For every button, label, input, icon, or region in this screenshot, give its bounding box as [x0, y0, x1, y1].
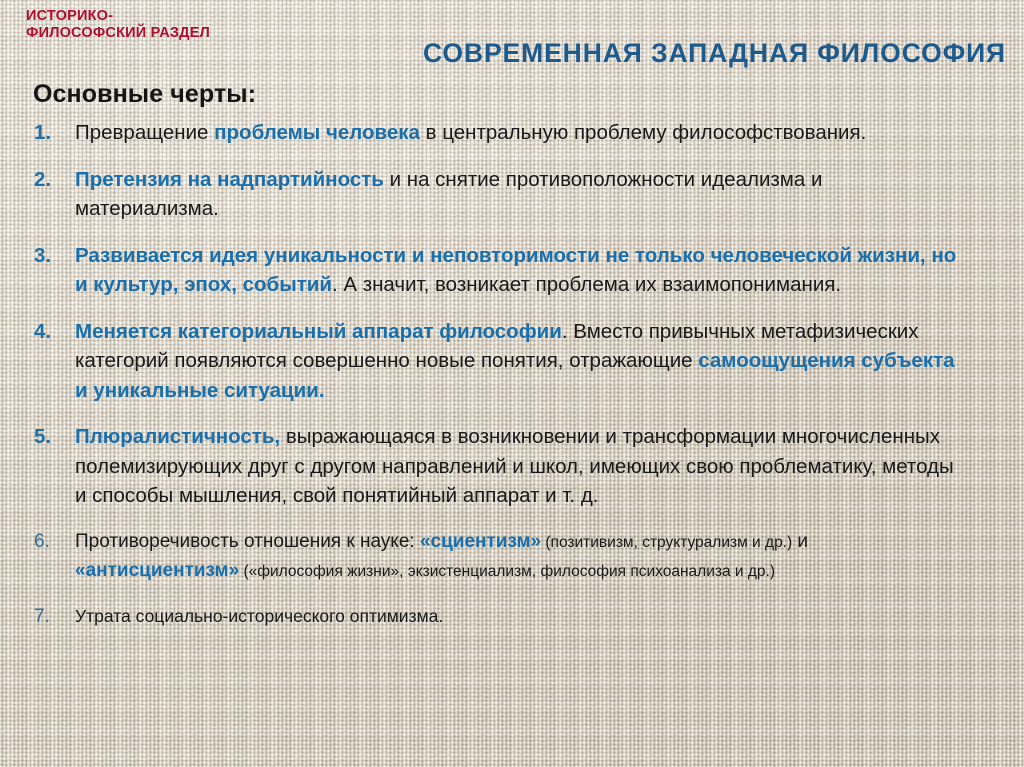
text-segment: в центральную проблему философствования.: [420, 121, 866, 144]
text-segment: («философия жизни», экзистенциализм, фил…: [239, 563, 775, 580]
text-segment: Утрата социально-исторического оптимизма…: [75, 606, 443, 626]
section-tag: ИСТОРИКО- ФИЛОСОФСКИЙ РАЗДЕЛ: [26, 8, 286, 41]
list-item-marker: 1.: [34, 118, 64, 148]
list-item: 1.Превращение проблемы человека в центра…: [0, 118, 1024, 148]
list-item-text: Плюралистичность, выражающаяся в возникн…: [75, 422, 966, 511]
highlighted-phrase: «сциентизм»: [420, 531, 541, 552]
text-segment: Превращение: [75, 121, 214, 144]
slide-content: ИСТОРИКО- ФИЛОСОФСКИЙ РАЗДЕЛ СОВРЕМЕННАЯ…: [0, 0, 1024, 767]
text-segment: (позитивизм, структурализм и др.): [541, 534, 792, 551]
features-list: 1.Превращение проблемы человека в центра…: [0, 118, 1024, 647]
list-item-marker: 5.: [34, 422, 64, 452]
list-item-marker: 3.: [34, 241, 64, 271]
highlighted-phrase: «антисциентизм»: [75, 560, 239, 581]
list-item: 7.Утрата социально-исторического оптимиз…: [0, 603, 1024, 630]
list-item: 2.Претензия на надпартийность и на сняти…: [0, 165, 1024, 224]
text-segment: . А значит, возникает проблема их взаимо…: [332, 273, 841, 296]
list-item-text: Утрата социально-исторического оптимизма…: [75, 603, 966, 630]
slide-title: СОВРЕМЕННАЯ ЗАПАДНАЯ ФИЛОСОФИЯ: [300, 38, 1024, 69]
highlighted-phrase: Меняется категориальный аппарат философи…: [75, 320, 562, 343]
text-segment: Противоречивость отношения к науке:: [75, 531, 420, 552]
list-item-text: Противоречивость отношения к науке: «сци…: [75, 528, 966, 586]
highlighted-phrase: Плюралистичность,: [75, 425, 280, 448]
section-tag-line-1: ИСТОРИКО-: [26, 8, 286, 25]
page-title: Основные черты:: [33, 80, 256, 109]
list-item-marker: 2.: [34, 165, 64, 195]
list-item: 4.Меняется категориальный аппарат филосо…: [0, 317, 1024, 406]
list-item-text: Развивается идея уникальности и неповтор…: [75, 241, 966, 300]
list-item: 3.Развивается идея уникальности и неповт…: [0, 241, 1024, 300]
highlighted-phrase: Претензия на надпартийность: [75, 168, 384, 191]
slide-header: ИСТОРИКО- ФИЛОСОФСКИЙ РАЗДЕЛ СОВРЕМЕННАЯ…: [0, 0, 1024, 76]
list-item-text: Претензия на надпартийность и на снятие …: [75, 165, 966, 224]
section-tag-line-2: ФИЛОСОФСКИЙ РАЗДЕЛ: [26, 25, 286, 42]
highlighted-phrase: проблемы человека: [214, 121, 420, 144]
list-item-marker: 7.: [34, 603, 64, 630]
list-item-marker: 4.: [34, 317, 64, 347]
list-item-marker: 6.: [34, 528, 64, 556]
list-item: 6.Противоречивость отношения к науке: «с…: [0, 528, 1024, 586]
text-segment: и: [792, 531, 808, 552]
list-item: 5.Плюралистичность, выражающаяся в возни…: [0, 422, 1024, 511]
list-item-text: Меняется категориальный аппарат философи…: [75, 317, 966, 406]
list-item-text: Превращение проблемы человека в централь…: [75, 118, 966, 148]
